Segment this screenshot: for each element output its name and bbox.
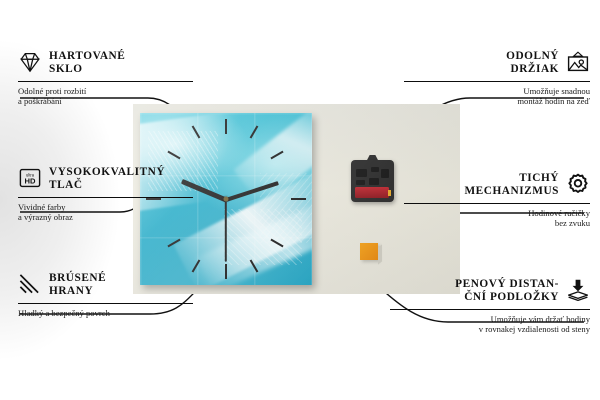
- clock-tick: [192, 125, 201, 138]
- feature-divider: [390, 309, 590, 310]
- feature-durable-holder: ODOLNÝ DRŽIAK Umožňuje snadnou montáž ho…: [404, 50, 590, 107]
- feature-title: ODOLNÝ DRŽIAK: [506, 50, 559, 77]
- feature-header: ultra HD VYSOKOKVALITNÝ TLAČ: [18, 166, 193, 193]
- feature-divider: [404, 203, 590, 204]
- clock-center-hub: [224, 197, 229, 202]
- feature-divider: [404, 81, 590, 82]
- clock-tick: [225, 119, 227, 134]
- feature-description: Odolné proti rozbití a poškrábání: [18, 86, 193, 107]
- feature-header: TICHÝ MECHANIZMUS: [404, 172, 590, 199]
- feature-tempered-glass: HARTOVANÉ SKLO Odolné proti rozbití a po…: [18, 50, 193, 107]
- feature-header: HARTOVANÉ SKLO: [18, 50, 193, 77]
- feature-header: ODOLNÝ DRŽIAK: [404, 50, 590, 77]
- clock-tick: [270, 151, 283, 160]
- feature-description: Hodinové ručičky bez zvuku: [404, 208, 590, 229]
- clock-tick: [250, 125, 259, 138]
- clock-minute-hand: [225, 181, 279, 202]
- clock-tick: [291, 198, 306, 200]
- foam-spacer-pad: [360, 243, 378, 260]
- feature-divider: [18, 303, 193, 304]
- clock-tick: [167, 151, 180, 160]
- feature-title: TICHÝ MECHANIZMUS: [464, 172, 559, 199]
- feature-title: BRÚSENÉ HRANY: [49, 272, 106, 299]
- feature-description: Hladký a bezpečný povrch: [18, 308, 193, 319]
- feature-title: PENOVÝ DISTAN- ČNÍ PODLOŽKY: [455, 278, 559, 305]
- feature-title: HARTOVANÉ SKLO: [49, 50, 125, 77]
- bevel-lines-icon: [18, 272, 42, 296]
- feature-header: PENOVÝ DISTAN- ČNÍ PODLOŽKY: [390, 278, 590, 305]
- diamond-icon: [18, 50, 42, 74]
- clock-tick: [270, 239, 283, 248]
- clock-movement: [351, 160, 394, 202]
- press-down-layers-icon: [566, 278, 590, 302]
- feature-ground-edges: BRÚSENÉ HRANY Hladký a bezpečný povrch: [18, 272, 193, 318]
- svg-text:HD: HD: [25, 177, 36, 186]
- hanging-picture-icon: [566, 50, 590, 74]
- movement-battery: [355, 187, 389, 198]
- clock-tick: [250, 259, 259, 272]
- feature-description: Umožňuje vám držať hodiny v rovnakej vzd…: [390, 314, 590, 335]
- feature-description: Vividné farby a výrazný obraz: [18, 202, 193, 223]
- feature-description: Umožňuje snadnou montáž hodin na zeď: [404, 86, 590, 107]
- feature-title: VYSOKOKVALITNÝ TLAČ: [49, 166, 165, 193]
- feature-header: BRÚSENÉ HRANY: [18, 272, 193, 299]
- clock-tick: [167, 239, 180, 248]
- feature-high-quality-print: ultra HD VYSOKOKVALITNÝ TLAČ Vividné far…: [18, 166, 193, 223]
- ultra-hd-badge-icon: ultra HD: [18, 166, 42, 190]
- feature-silent-mechanism: TICHÝ MECHANIZMUS Hodinové ručičky bez z…: [404, 172, 590, 229]
- feature-divider: [18, 81, 193, 82]
- clock-tick: [225, 264, 227, 279]
- feature-divider: [18, 197, 193, 198]
- product-feature-infographic: HARTOVANÉ SKLO Odolné proti rozbití a po…: [0, 0, 600, 400]
- gear-icon: [566, 172, 590, 196]
- clock-second-hand: [225, 200, 227, 262]
- clock-tick: [192, 259, 201, 272]
- feature-foam-spacers: PENOVÝ DISTAN- ČNÍ PODLOŽKY Umožňuje vám…: [390, 278, 590, 335]
